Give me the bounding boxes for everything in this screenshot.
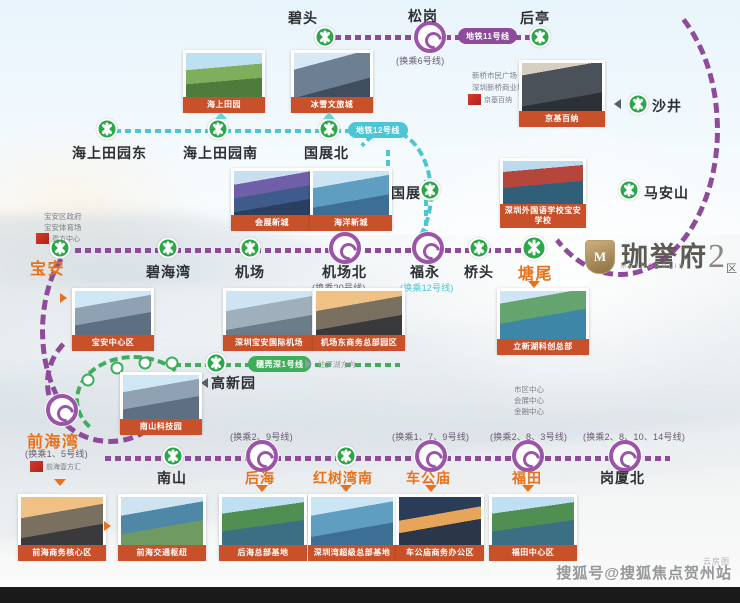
station-transfer-qianhaiwan: (换乘1、5号线) [25,447,88,460]
haishangtianyuan-arrow-icon [215,112,227,119]
station-label-baoan: 宝安 [30,255,65,279]
station-label-maanshan: 马安山 [644,183,689,203]
bottom-arrow-icon [104,521,111,531]
photo-jingjibaina [522,63,602,111]
line-11-bottom-segment [105,456,670,461]
line-12-top-segment [105,129,385,133]
project-logo-crest-icon: M [585,240,615,274]
photo-card-jichangdong[interactable]: 机场东商务总部园区 [313,288,405,349]
direction-arrow-icon [305,359,312,369]
station-transfer-futian: (换乘2、8、3号线) [490,430,567,443]
photo-houhaizongbu [222,497,304,545]
project-logo-number: 2 [708,238,725,276]
station-marker-suiguanshen-d[interactable] [82,374,95,387]
qianhai-mall-label: 前海壹方汇 [46,462,81,472]
photo-caption-waiguoyu: 深圳外国语学校宝安学校 [500,204,586,228]
station-marker-haishangtianyuandong[interactable] [97,119,118,140]
photo-huizhanxincheng [234,171,310,215]
photo-chegongmiao [399,497,481,545]
photo-caption-baoanzhongxinqu: 宝安中心区 [72,335,154,351]
station-marker-gaoxinyuan[interactable] [206,353,227,374]
station-label-bihaiwan: 碧海湾 [146,262,191,282]
photo-caption-bingxue: 冰雪文旅城 [291,97,373,113]
qianhaiwan-arrow-icon [54,479,66,486]
futian-arrow-icon [522,485,534,492]
station-transfer-chegongmiao: (换乘1、7、9号线) [392,430,469,443]
photo-card-nanshankejiyuan[interactable]: 南山科技园 [120,372,202,433]
hongshuwannan-arrow-icon [340,485,352,492]
xinqiao-note-2: 深圳新桥商业城 [472,82,525,93]
chegongmiao-arrow-icon [425,485,437,492]
station-transfer-houhai: (换乘2、9号线) [230,430,293,443]
xinqiao-mall-tag: 京基百纳 [468,94,512,105]
mall-logo-icon [30,461,43,472]
photo-card-huizhanxincheng[interactable]: 会展新城 [231,168,313,229]
direction-note: 往罗湖方向 [318,359,356,370]
photo-card-qianhaishuniu[interactable]: 前海交通枢纽 [118,494,206,559]
xinqiao-note-1: 新桥市民广场 [472,70,517,81]
station-label-shajing: 沙井 [652,96,682,116]
photo-shenzhenwan [311,497,393,545]
station-label-gangxiabei: 岗厦北 [600,468,645,488]
photo-card-houhaizongbu[interactable]: 后海总部基地 [219,494,307,559]
baoan-mall-label: 壹方中心 [52,234,80,244]
photo-card-baoanzhongxinqu[interactable]: 宝安中心区 [72,288,154,349]
station-marker-tangwei[interactable] [522,236,547,261]
photo-waiguoyu [503,161,583,204]
line-badge-12: 地铁12号线 [348,122,408,138]
baoan-mall-logo-icon [36,233,49,244]
photo-haiyangxincheng [313,171,389,215]
line-badge-suiguanshen: 穗莞深1号线 [248,356,311,372]
station-marker-shajing[interactable] [628,94,649,115]
photo-card-futianzhongxinqu[interactable]: 福田中心区 [489,494,577,559]
photo-caption-huizhanxincheng: 会展新城 [231,215,313,231]
footer-bar [0,587,740,603]
station-label-gaoxinyuan: 高新园 [211,373,256,393]
xinqiao-mall-label: 京基百纳 [484,95,512,105]
xinqiao-mall-logo-icon [468,94,481,105]
photo-caption-shenzhenwan: 深圳湾超级总部基地 [308,545,396,561]
station-label-nanshan: 南山 [157,468,187,488]
station-label-fuyong: 福永 [410,262,440,282]
station-transfer-fuyong: (换乘12号线) [400,281,454,294]
station-marker-bitou[interactable] [315,27,336,48]
futian-note-2: 会展中心 [514,395,544,406]
photo-futianzhongxinqu [492,497,574,545]
station-label-songgang: 松岗 [408,6,438,26]
photo-card-lixinhu[interactable]: 立新湖科创总部 [497,288,589,353]
station-marker-bihaiwan[interactable] [158,238,179,259]
photo-card-baoanjichang[interactable]: 深圳宝安国际机场 [223,288,315,349]
station-label-haishangtianyuandong: 海上田园东 [72,143,147,163]
photo-qianhaihexin [21,497,103,545]
photo-caption-futianzhongxinqu: 福田中心区 [489,545,577,561]
photo-caption-houhaizongbu: 后海总部基地 [219,545,307,561]
photo-card-bingxue[interactable]: 冰雪文旅城 [291,50,373,111]
photo-bingxue [294,53,370,97]
photo-jichangdong [316,291,402,335]
project-logo: M 珈誉府 2 区 METROPOLIS [585,238,737,276]
station-marker-suiguanshen-a[interactable] [166,357,179,370]
station-label-guozhan: 国展 [391,183,421,203]
station-label-houting: 后亭 [520,8,550,28]
baoan-note-2: 宝安体育场 [44,222,82,233]
photo-caption-lixinhu: 立新湖科创总部 [497,339,589,355]
photo-haishangtianyuan [186,53,262,97]
station-transfer-songgang: (换乘6号线) [396,54,444,67]
station-marker-haishangtianyuannan[interactable] [208,119,229,140]
station-marker-jichang[interactable] [240,238,261,259]
station-marker-hongshuwannan[interactable] [336,446,357,467]
station-marker-guozhan[interactable] [420,180,441,201]
line-badge-11: 地铁11号线 [458,28,517,44]
photo-baoanjichang [226,291,312,335]
project-logo-suffix: 区 [726,260,737,276]
station-transfer-gangxiabei: (换乘2、8、10、14号线) [583,430,685,443]
photo-caption-qianhaihexin: 前海商务核心区 [18,545,106,561]
station-marker-suiguanshen-b[interactable] [139,357,152,370]
futian-note-1: 市区中心 [514,384,544,395]
photo-card-jingjibaina[interactable]: 京基百纳 [519,60,605,125]
shajing-arrow-icon [614,99,621,109]
baoan-mall-tag: 壹方中心 [36,233,80,244]
station-marker-guozhanbei[interactable] [319,119,340,140]
photo-lixinhu [500,291,586,339]
baoan-note-1: 宝安区政府 [44,211,82,222]
station-marker-jichangbei[interactable] [329,232,361,264]
station-marker-maanshan[interactable] [619,180,640,201]
photo-caption-chegongmiao: 车公庙商务办公区 [396,545,484,561]
watermark-text: 搜狐号@搜狐焦点贺州站 [556,562,732,583]
photo-nanshankejiyuan [123,375,199,419]
photo-card-qianhaihexin[interactable]: 前海商务核心区 [18,494,106,559]
houhai-arrow-icon [256,485,268,492]
photo-card-haiyangxincheng[interactable]: 海洋新城 [310,168,392,229]
photo-caption-haishangtianyuan: 海上田园 [183,97,265,113]
qianhai-mall-tag: 前海壹方汇 [30,461,81,472]
baoan-photo-arrow-icon [60,293,67,303]
station-label-jichang: 机场 [235,262,265,282]
futian-note-3: 金融中心 [514,406,544,417]
station-marker-nanshan[interactable] [163,446,184,467]
photo-caption-jingjibaina: 京基百纳 [519,111,605,127]
bingxue-arrow-icon [323,112,335,119]
gaoxinyuan-arrow-icon [201,378,208,388]
station-label-haishangtianyuannan: 海上田园南 [183,143,258,163]
photo-qianhaishuniu [121,497,203,545]
transit-map-infographic: 地铁11号线 地铁12号线 穗莞深1号线 往罗湖方向 碧头 松岗 (换乘6号线)… [0,0,740,603]
station-label-bitou: 碧头 [288,8,318,28]
photo-caption-baoanjichang: 深圳宝安国际机场 [223,335,315,351]
project-logo-en: METROPOLIS [621,264,685,270]
station-label-jichangbei: 机场北 [322,262,367,282]
station-marker-houting[interactable] [530,27,551,48]
photo-card-chegongmiao[interactable]: 车公庙商务办公区 [396,494,484,559]
photo-caption-jichangdong: 机场东商务总部园区 [313,335,405,351]
photo-baoanzhongxinqu [75,291,151,335]
tangwei-arrow-icon [528,281,540,288]
station-label-qiaotou: 桥头 [464,262,494,282]
photo-caption-haiyangxincheng: 海洋新城 [310,215,392,231]
photo-caption-nanshankejiyuan: 南山科技园 [120,419,202,435]
photo-card-shenzhenwan[interactable]: 深圳湾超级总部基地 [308,494,396,559]
station-label-guozhanbei: 国展北 [304,143,349,163]
station-marker-qianhaiwan[interactable] [46,394,78,426]
photo-card-waiguoyu[interactable]: 深圳外国语学校宝安学校 [500,158,586,223]
station-marker-qiaotou[interactable] [469,238,490,259]
photo-card-haishangtianyuan[interactable]: 海上田园 [183,50,265,111]
photo-caption-qianhaishuniu: 前海交通枢纽 [118,545,206,561]
station-marker-fuyong[interactable] [412,232,444,264]
